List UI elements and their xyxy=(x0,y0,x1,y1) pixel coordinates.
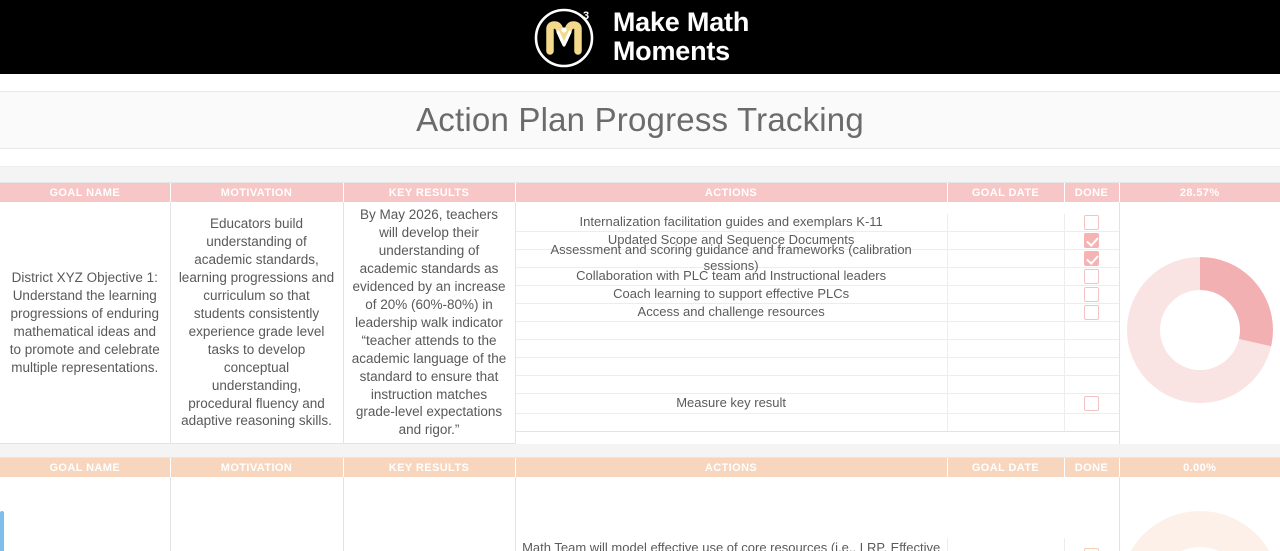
done-cell[interactable] xyxy=(1065,414,1119,431)
motivation-cell[interactable] xyxy=(170,477,343,551)
checkbox-unchecked-icon[interactable] xyxy=(1084,396,1099,411)
checkbox-unchecked-icon[interactable] xyxy=(1084,287,1099,302)
donut-wrapper xyxy=(1120,477,1280,551)
action-label[interactable] xyxy=(516,340,948,357)
goal-date-cell[interactable] xyxy=(948,232,1065,249)
goal-date-cell[interactable] xyxy=(948,214,1065,231)
action-row: Assessment and scoring guidance and fram… xyxy=(516,250,1119,268)
goal-date-cell[interactable] xyxy=(948,286,1065,303)
brand-line-1: Make Math xyxy=(613,8,749,37)
section-spacer-1 xyxy=(0,167,1280,183)
column-header-motivation: MOTIVATION xyxy=(170,458,343,477)
column-header-motivation: MOTIVATION xyxy=(170,183,343,202)
column-header-done: DONE xyxy=(1064,458,1119,477)
table-row: Ensuring fidelity ofBy the end of 2024 t… xyxy=(0,477,1280,551)
action-row: Internalization facilitation guides and … xyxy=(516,214,1119,232)
page-title-band: Action Plan Progress Tracking xyxy=(0,92,1280,149)
m-cubed-circle-logo: 3 xyxy=(531,4,597,70)
action-row xyxy=(516,376,1119,394)
key-results-cell-text: By May 2026, teachers will develop their… xyxy=(344,202,515,443)
action-label[interactable] xyxy=(516,322,948,339)
done-cell[interactable] xyxy=(1065,340,1119,357)
action-label[interactable] xyxy=(516,376,948,393)
progress-donut-chart xyxy=(1127,257,1273,403)
motivation-cell-text: Educators build understanding of academi… xyxy=(171,211,343,434)
checkbox-unchecked-icon[interactable] xyxy=(1084,305,1099,320)
goal-table-1: GOAL NAMEMOTIVATIONKEY RESULTSACTIONSGOA… xyxy=(0,183,1280,444)
action-row xyxy=(516,322,1119,340)
progress-chart-cell xyxy=(1119,202,1280,444)
goal-name-cell-text: District XYZ Objective 1: Understand the… xyxy=(0,265,170,381)
action-row: Math Team will model effective use of co… xyxy=(516,538,1119,551)
title-top-gap xyxy=(0,74,1280,92)
goal-tables-container: GOAL NAMEMOTIVATIONKEY RESULTSACTIONSGOA… xyxy=(0,183,1280,551)
action-label[interactable]: Coach learning to support effective PLCs xyxy=(516,286,948,303)
svg-text:3: 3 xyxy=(583,10,589,22)
title-bottom-gap xyxy=(0,149,1280,167)
action-label[interactable] xyxy=(516,358,948,375)
column-header-percent: 0.00% xyxy=(1119,458,1280,477)
column-header-goal-date: GOAL DATE xyxy=(947,458,1064,477)
vertical-scroll-indicator[interactable] xyxy=(0,511,4,551)
column-header-key-results: KEY RESULTS xyxy=(343,183,515,202)
table-header-row: GOAL NAMEMOTIVATIONKEY RESULTSACTIONSGOA… xyxy=(0,183,1280,202)
motivation-cell[interactable]: Educators build understanding of academi… xyxy=(170,202,343,444)
column-header-key-results: KEY RESULTS xyxy=(343,458,515,477)
done-cell[interactable] xyxy=(1065,304,1119,321)
done-cell[interactable] xyxy=(1065,268,1119,285)
actions-group-cell: Math Team will model effective use of co… xyxy=(515,477,1119,551)
donut-hole xyxy=(1160,290,1240,370)
done-cell[interactable] xyxy=(1065,250,1119,267)
progress-donut-chart xyxy=(1120,511,1280,551)
action-row: Collaboration with PLC team and Instruct… xyxy=(516,268,1119,286)
column-header-actions: ACTIONS xyxy=(515,183,947,202)
done-cell[interactable] xyxy=(1065,214,1119,231)
goal-date-cell[interactable] xyxy=(948,322,1065,339)
action-row xyxy=(516,358,1119,376)
action-row xyxy=(516,414,1119,432)
goal-date-cell[interactable] xyxy=(948,414,1065,431)
checkbox-checked-icon[interactable] xyxy=(1084,251,1099,266)
column-header-done: DONE xyxy=(1064,183,1119,202)
action-row: Coach learning to support effective PLCs xyxy=(516,286,1119,304)
goal-date-cell[interactable] xyxy=(948,304,1065,321)
checkbox-unchecked-icon[interactable] xyxy=(1084,215,1099,230)
key-results-cell[interactable]: By the end of 2024 the math team will ha… xyxy=(343,477,515,551)
action-label[interactable]: Math Team will model effective use of co… xyxy=(516,538,948,551)
action-label[interactable]: Internalization facilitation guides and … xyxy=(516,214,948,231)
actions-group-cell: Internalization facilitation guides and … xyxy=(515,202,1119,444)
brand-bar: 3 Make Math Moments xyxy=(0,0,1280,74)
action-label[interactable]: Assessment and scoring guidance and fram… xyxy=(516,250,948,267)
done-cell[interactable] xyxy=(1065,322,1119,339)
brand-wordmark: Make Math Moments xyxy=(613,8,749,66)
key-results-cell[interactable]: By May 2026, teachers will develop their… xyxy=(343,202,515,444)
brand-logo-group: 3 Make Math Moments xyxy=(531,4,749,70)
done-cell[interactable] xyxy=(1065,538,1119,551)
donut-hole xyxy=(1156,547,1244,551)
donut-wrapper xyxy=(1120,242,1280,403)
done-cell[interactable] xyxy=(1065,394,1119,413)
action-label[interactable] xyxy=(516,414,948,431)
goal-date-cell[interactable] xyxy=(948,250,1065,267)
action-label[interactable]: Measure key result xyxy=(516,394,948,413)
action-row: Measure key result xyxy=(516,394,1119,414)
action-label[interactable]: Collaboration with PLC team and Instruct… xyxy=(516,268,948,285)
column-header-percent: 28.57% xyxy=(1119,183,1280,202)
column-header-actions: ACTIONS xyxy=(515,458,947,477)
table-header-row: GOAL NAMEMOTIVATIONKEY RESULTSACTIONSGOA… xyxy=(0,458,1280,477)
column-header-goal-name: GOAL NAME xyxy=(0,458,170,477)
goal-date-cell[interactable] xyxy=(948,538,1065,551)
goal-date-cell[interactable] xyxy=(948,268,1065,285)
goal-date-cell[interactable] xyxy=(948,394,1065,413)
key-results-cell-text: By the end of 2024 the math team will ha… xyxy=(344,546,515,551)
done-cell[interactable] xyxy=(1065,358,1119,375)
section-spacer-2 xyxy=(0,444,1280,458)
goal-date-cell[interactable] xyxy=(948,376,1065,393)
goal-date-cell[interactable] xyxy=(948,358,1065,375)
column-header-goal-date: GOAL DATE xyxy=(947,183,1064,202)
page-title: Action Plan Progress Tracking xyxy=(416,101,864,139)
table-row: District XYZ Objective 1: Understand the… xyxy=(0,202,1280,444)
checkbox-checked-icon[interactable] xyxy=(1084,233,1099,248)
column-header-goal-name: GOAL NAME xyxy=(0,183,170,202)
goal-name-cell[interactable]: Ensuring fidelity of xyxy=(0,477,170,551)
action-label[interactable]: Access and challenge resources xyxy=(516,304,948,321)
action-row: Access and challenge resources xyxy=(516,304,1119,322)
goal-name-cell[interactable]: District XYZ Objective 1: Understand the… xyxy=(0,202,170,444)
done-cell[interactable] xyxy=(1065,286,1119,303)
progress-chart-cell xyxy=(1119,477,1280,551)
checkbox-unchecked-icon[interactable] xyxy=(1084,269,1099,284)
goal-table-2: GOAL NAMEMOTIVATIONKEY RESULTSACTIONSGOA… xyxy=(0,458,1280,551)
done-cell[interactable] xyxy=(1065,232,1119,249)
goal-date-cell[interactable] xyxy=(948,340,1065,357)
action-row xyxy=(516,340,1119,358)
done-cell[interactable] xyxy=(1065,376,1119,393)
brand-line-2: Moments xyxy=(613,37,749,66)
